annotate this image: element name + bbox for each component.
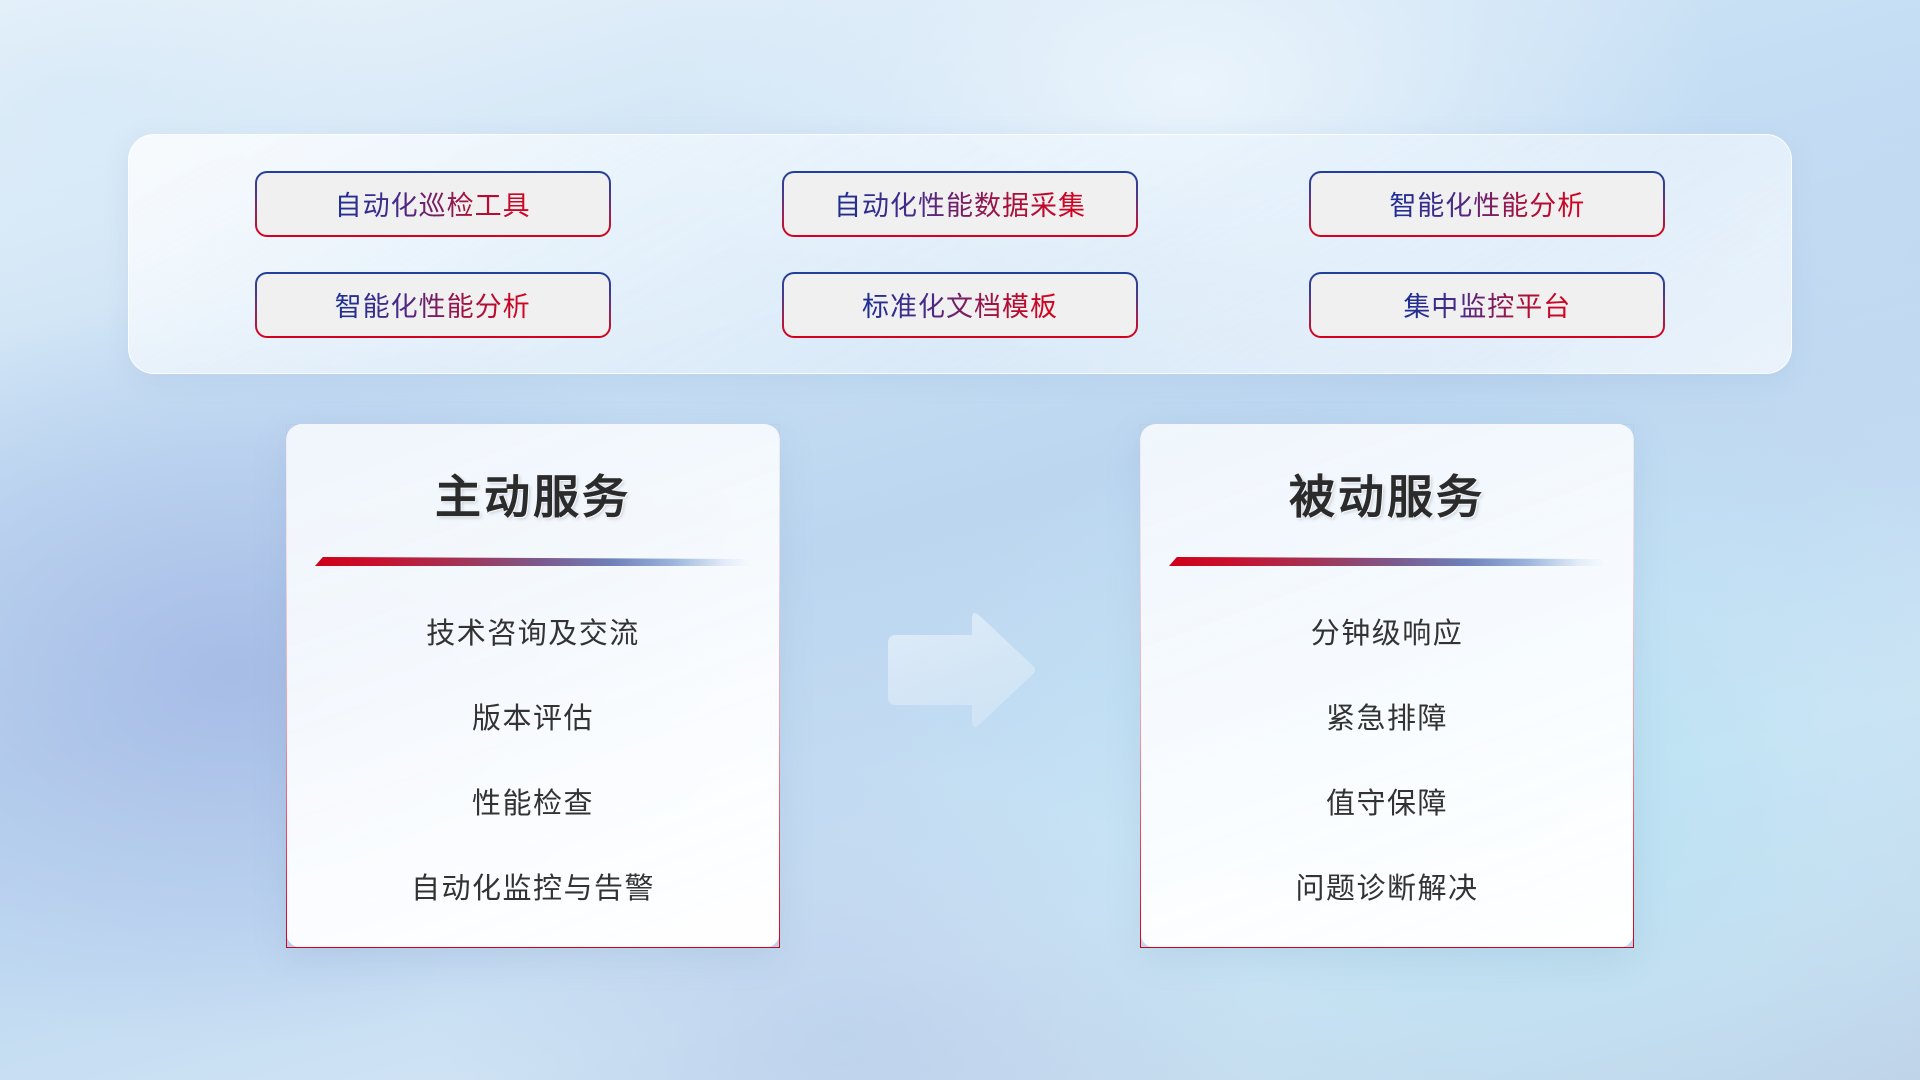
list-item: 问题诊断解决 [1141,865,1633,907]
card-title-active: 主动服务 [287,425,779,527]
slide-canvas: 自动化巡检工具 自动化性能数据采集 智能化性能分析 智能化性能分析 标准化文档模… [0,0,1920,1080]
capability-tag-label: 集中监控平台 [1403,285,1571,324]
capability-tag-automated-inspection-tool[interactable]: 自动化巡检工具 [255,171,611,237]
capability-tag-intelligent-performance-analysis-1[interactable]: 智能化性能分析 [1309,171,1665,237]
service-card-passive: 被动服务 分钟级响应 紧急排障 值守保障 问题诊断解决 SLA式服务 [1140,424,1634,948]
list-item: 分钟级响应 [1141,610,1633,652]
service-list-passive: 分钟级响应 紧急排障 值守保障 问题诊断解决 SLA式服务 [1141,566,1633,948]
list-item: 版本评估 [287,695,779,737]
capability-tag-intelligent-performance-analysis-2[interactable]: 智能化性能分析 [255,272,611,338]
right-arrow-icon [880,610,1038,730]
service-list-active: 技术咨询及交流 版本评估 性能检查 自动化监控与告警 健康巡检 [287,566,779,948]
capability-tag-label: 智能化性能分析 [335,285,531,324]
card-divider-active [315,557,751,566]
card-divider-passive [1169,557,1605,566]
capability-tag-automated-performance-data-collection[interactable]: 自动化性能数据采集 [782,171,1138,237]
list-item: 自动化监控与告警 [287,865,779,907]
capability-tag-standardized-document-template[interactable]: 标准化文档模板 [782,272,1138,338]
capability-tag-label: 自动化巡检工具 [335,184,531,223]
capability-tag-panel: 自动化巡检工具 自动化性能数据采集 智能化性能分析 智能化性能分析 标准化文档模… [128,134,1792,374]
capability-tag-label: 智能化性能分析 [1389,184,1585,223]
service-card-active: 主动服务 技术咨询及交流 版本评估 性能检查 自动化监控与告警 健康巡检 [286,424,780,948]
list-item: 紧急排障 [1141,695,1633,737]
list-item: 值守保障 [1141,780,1633,822]
card-title-passive: 被动服务 [1141,425,1633,527]
capability-tag-label: 自动化性能数据采集 [834,184,1086,223]
capability-tag-centralized-monitoring-platform[interactable]: 集中监控平台 [1309,272,1665,338]
list-item: 技术咨询及交流 [287,610,779,652]
capability-tag-label: 标准化文档模板 [862,285,1058,324]
list-item: 性能检查 [287,780,779,822]
